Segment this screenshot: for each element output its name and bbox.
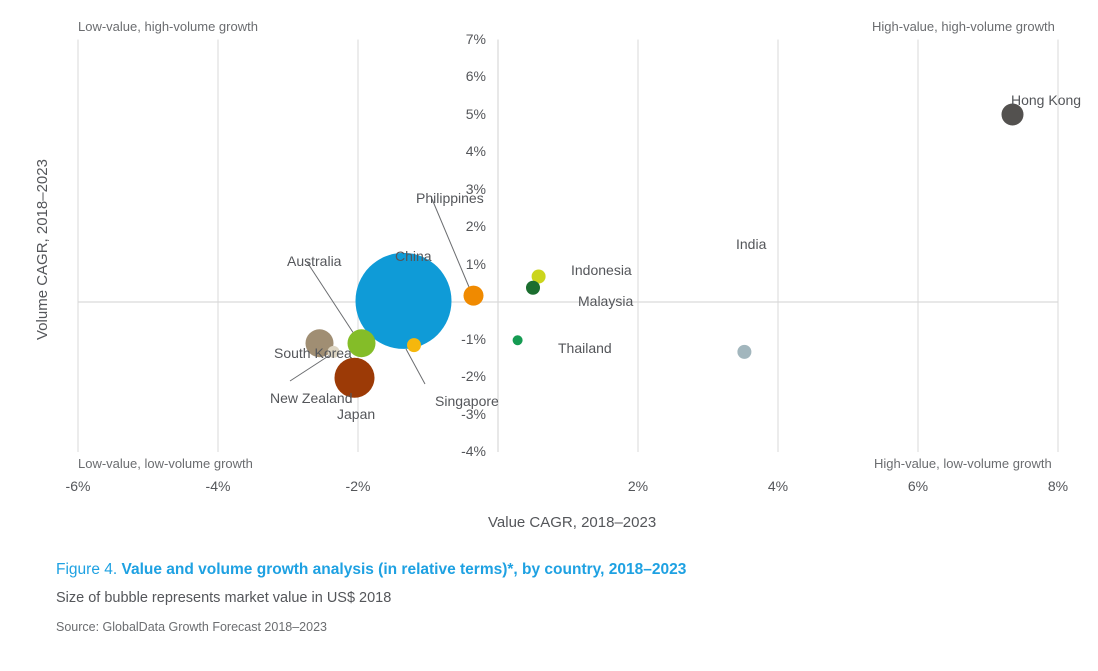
leader-line-australia: [307, 262, 356, 337]
point-label-philippines: Philippines: [416, 190, 484, 206]
figure-title: Figure 4. Value and volume growth analys…: [56, 560, 1056, 579]
bubble-india[interactable]: [737, 345, 751, 359]
figure-subtitle: Size of bubble represents market value i…: [56, 590, 1056, 606]
y-tick-label: 4%: [440, 143, 486, 159]
quadrant-label-bottom-right: High-value, low-volume growth: [874, 456, 1052, 471]
y-tick-label: -4%: [440, 443, 486, 459]
figure-container: Low-value, high-volume growth High-value…: [0, 0, 1098, 671]
x-axis-title: Value CAGR, 2018–2023: [488, 514, 656, 531]
point-label-china: China: [395, 248, 432, 264]
y-tick-label: 6%: [440, 68, 486, 84]
bubble-thailand[interactable]: [513, 335, 523, 345]
point-label-south-korea: South Korea: [274, 345, 352, 361]
y-tick-label: 1%: [440, 256, 486, 272]
point-label-japan: Japan: [337, 406, 375, 422]
point-label-malaysia: Malaysia: [578, 293, 633, 309]
x-tick-label: 6%: [878, 478, 958, 494]
point-label-singapore: Singapore: [435, 393, 499, 409]
x-tick-label: -2%: [318, 478, 398, 494]
point-label-new-zealand: New Zealand: [270, 390, 353, 406]
bubble-philippines[interactable]: [464, 286, 484, 306]
figure-number: Figure 4.: [56, 561, 117, 578]
leader-line-singapore: [406, 349, 425, 384]
y-tick-label: -2%: [440, 368, 486, 384]
quadrant-label-top-left: Low-value, high-volume growth: [78, 19, 258, 34]
chart-canvas: [0, 0, 1098, 520]
point-label-hong-kong: Hong Kong: [1011, 92, 1081, 108]
quadrant-label-bottom-left: Low-value, low-volume growth: [78, 456, 253, 471]
y-axis-title: Volume CAGR, 2018–2023: [34, 159, 51, 340]
point-label-indonesia: Indonesia: [571, 262, 632, 278]
y-tick-label: -1%: [440, 331, 486, 347]
y-tick-label: 2%: [440, 218, 486, 234]
x-tick-label: -6%: [38, 478, 118, 494]
x-tick-label: 2%: [598, 478, 678, 494]
figure-source: Source: GlobalData Growth Forecast 2018–…: [56, 620, 1056, 634]
bubble-singapore[interactable]: [407, 338, 421, 352]
y-tick-label: 5%: [440, 106, 486, 122]
quadrant-label-top-right: High-value, high-volume growth: [872, 19, 1055, 34]
caption-block: Figure 4. Value and volume growth analys…: [56, 560, 1056, 634]
y-tick-label: 7%: [440, 31, 486, 47]
figure-title-text: Value and volume growth analysis (in rel…: [121, 561, 686, 578]
x-tick-label: 8%: [1018, 478, 1098, 494]
point-label-australia: Australia: [287, 253, 341, 269]
point-label-thailand: Thailand: [558, 340, 612, 356]
bubble-malaysia[interactable]: [526, 281, 540, 295]
point-label-india: India: [736, 236, 766, 252]
x-tick-label: 4%: [738, 478, 818, 494]
x-tick-label: -4%: [178, 478, 258, 494]
bubble-chart: Low-value, high-volume growth High-value…: [0, 0, 1098, 520]
